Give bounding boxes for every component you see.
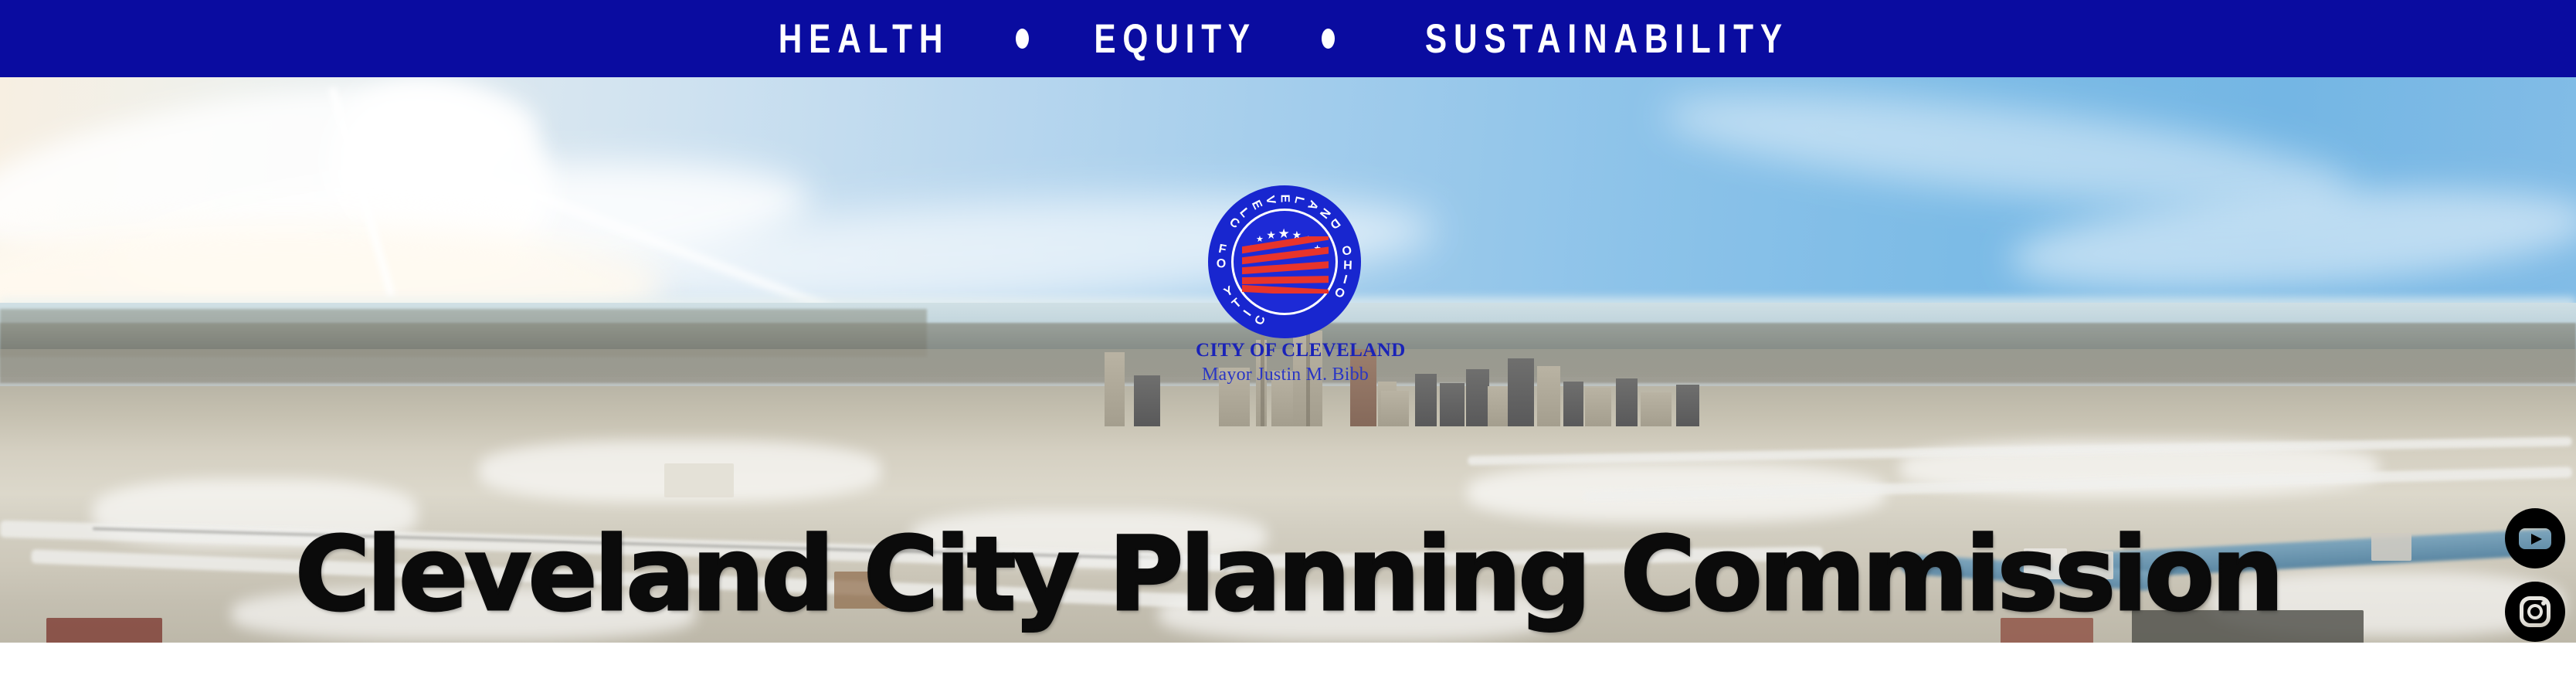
seal-flag xyxy=(1242,236,1329,293)
seal-ring-letter: F xyxy=(1217,243,1227,258)
page-title: Cleveland City Planning Commission xyxy=(0,524,2576,626)
midrise-building xyxy=(664,463,734,497)
skyline-building xyxy=(1585,388,1611,426)
youtube-icon[interactable] xyxy=(2505,508,2565,568)
seal-ring-letter: C xyxy=(1253,314,1269,327)
seal-ring-letter: V xyxy=(1262,195,1278,206)
cleveland-aerial-photo: CITYOFCLEVELANDOHIO ★★★★★★★ CITY OF CLEV… xyxy=(0,77,2576,643)
skyline-building xyxy=(1563,382,1583,426)
tagline-separator-dot-1 xyxy=(1016,29,1029,49)
skyline-building xyxy=(1641,392,1672,426)
instagram-icon[interactable] xyxy=(2505,582,2565,642)
skyline-building xyxy=(1537,366,1560,426)
skyline-building xyxy=(1676,385,1699,426)
seal-ring-letter: I xyxy=(1342,271,1349,286)
city-of-cleveland-seal: CITYOFCLEVELANDOHIO ★★★★★★★ CITY OF CLEV… xyxy=(1196,185,1375,365)
seal-ring-letter: H xyxy=(1343,256,1352,270)
seal-ring-letter: E xyxy=(1278,195,1291,203)
skyline-building xyxy=(1466,369,1489,426)
seal-ring-letter: O xyxy=(1333,283,1348,300)
bottom-white-strip xyxy=(0,643,2576,682)
tagline-banner: HEALTH EQUITY SUSTAINABILITY xyxy=(0,0,2576,77)
seal-emblem: CITYOFCLEVELANDOHIO ★★★★★★★ xyxy=(1208,185,1361,338)
skyline-building xyxy=(1134,375,1160,426)
skyline-building xyxy=(1508,358,1534,426)
skyline-building xyxy=(1616,378,1638,426)
tagline-separator-dot-2 xyxy=(1322,29,1335,49)
seal-ring-letter: O xyxy=(1216,257,1226,271)
seal-mayor-name: Mayor Justin M. Bibb xyxy=(1196,365,1375,385)
seal-ring-letter: L xyxy=(1291,195,1306,205)
banner-graphic: HEALTH EQUITY SUSTAINABILITY xyxy=(0,0,2576,682)
seal-org-name: CITY OF CLEVELAND xyxy=(1196,340,1375,361)
tagline-word-equity: EQUITY xyxy=(1094,19,1257,59)
seal-ring-letter: I xyxy=(1241,308,1254,319)
skyline-building xyxy=(1381,391,1409,426)
skyline-building xyxy=(1488,386,1508,426)
skyline-building xyxy=(1105,352,1125,426)
seal-ring-letter: E xyxy=(1248,198,1264,212)
seal-ring-letter: O xyxy=(1340,242,1352,257)
skyline-building xyxy=(1440,383,1464,426)
tagline-word-sustainability: SUSTAINABILITY xyxy=(1425,19,1789,59)
social-links[interactable] xyxy=(2505,508,2567,643)
skyline-building xyxy=(1415,374,1437,426)
tagline-word-health: HEALTH xyxy=(779,19,950,59)
